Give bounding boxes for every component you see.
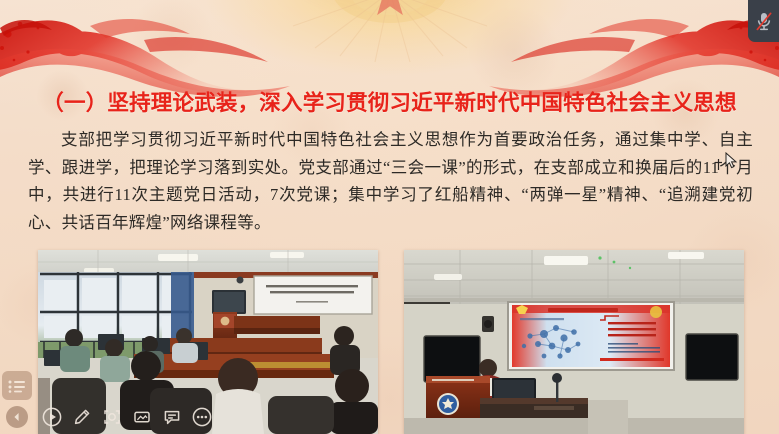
ellipsis-icon: [192, 407, 212, 427]
photo-lecture-hall: [404, 250, 744, 434]
slide-body-text: 支部把学习贯彻习近平新时代中国特色社会主义思想作为首要政治任务，通过集中学、自主…: [28, 126, 753, 236]
five-pointed-star-emblem: [285, 0, 495, 66]
laser-pointer-button[interactable]: [98, 405, 125, 429]
pen-button[interactable]: [68, 405, 95, 429]
pen-icon: [72, 407, 92, 427]
comment-button[interactable]: [158, 405, 185, 429]
laser-pointer-icon: [102, 407, 122, 427]
annotation-toolbar[interactable]: [38, 404, 218, 430]
presentation-slide: （一）坚持理论武装，深入学习贯彻习近平新时代中国特色社会主义思想 支部把学习贯彻…: [0, 0, 779, 434]
comment-icon: [162, 407, 182, 427]
chevron-left-icon: [11, 411, 23, 423]
toc-menu-button[interactable]: [2, 371, 32, 400]
back-button[interactable]: [6, 406, 28, 428]
play-icon: [42, 407, 62, 427]
list-menu-icon: [8, 379, 26, 393]
whiteboard-icon: [132, 407, 152, 427]
slide-title: （一）坚持理论武装，深入学习贯彻习近平新时代中国特色社会主义思想: [0, 86, 779, 117]
microphone-muted-icon: [754, 10, 774, 32]
whiteboard-button[interactable]: [128, 405, 155, 429]
more-button[interactable]: [188, 405, 215, 429]
play-button[interactable]: [38, 405, 65, 429]
mic-status-panel[interactable]: [748, 0, 779, 42]
